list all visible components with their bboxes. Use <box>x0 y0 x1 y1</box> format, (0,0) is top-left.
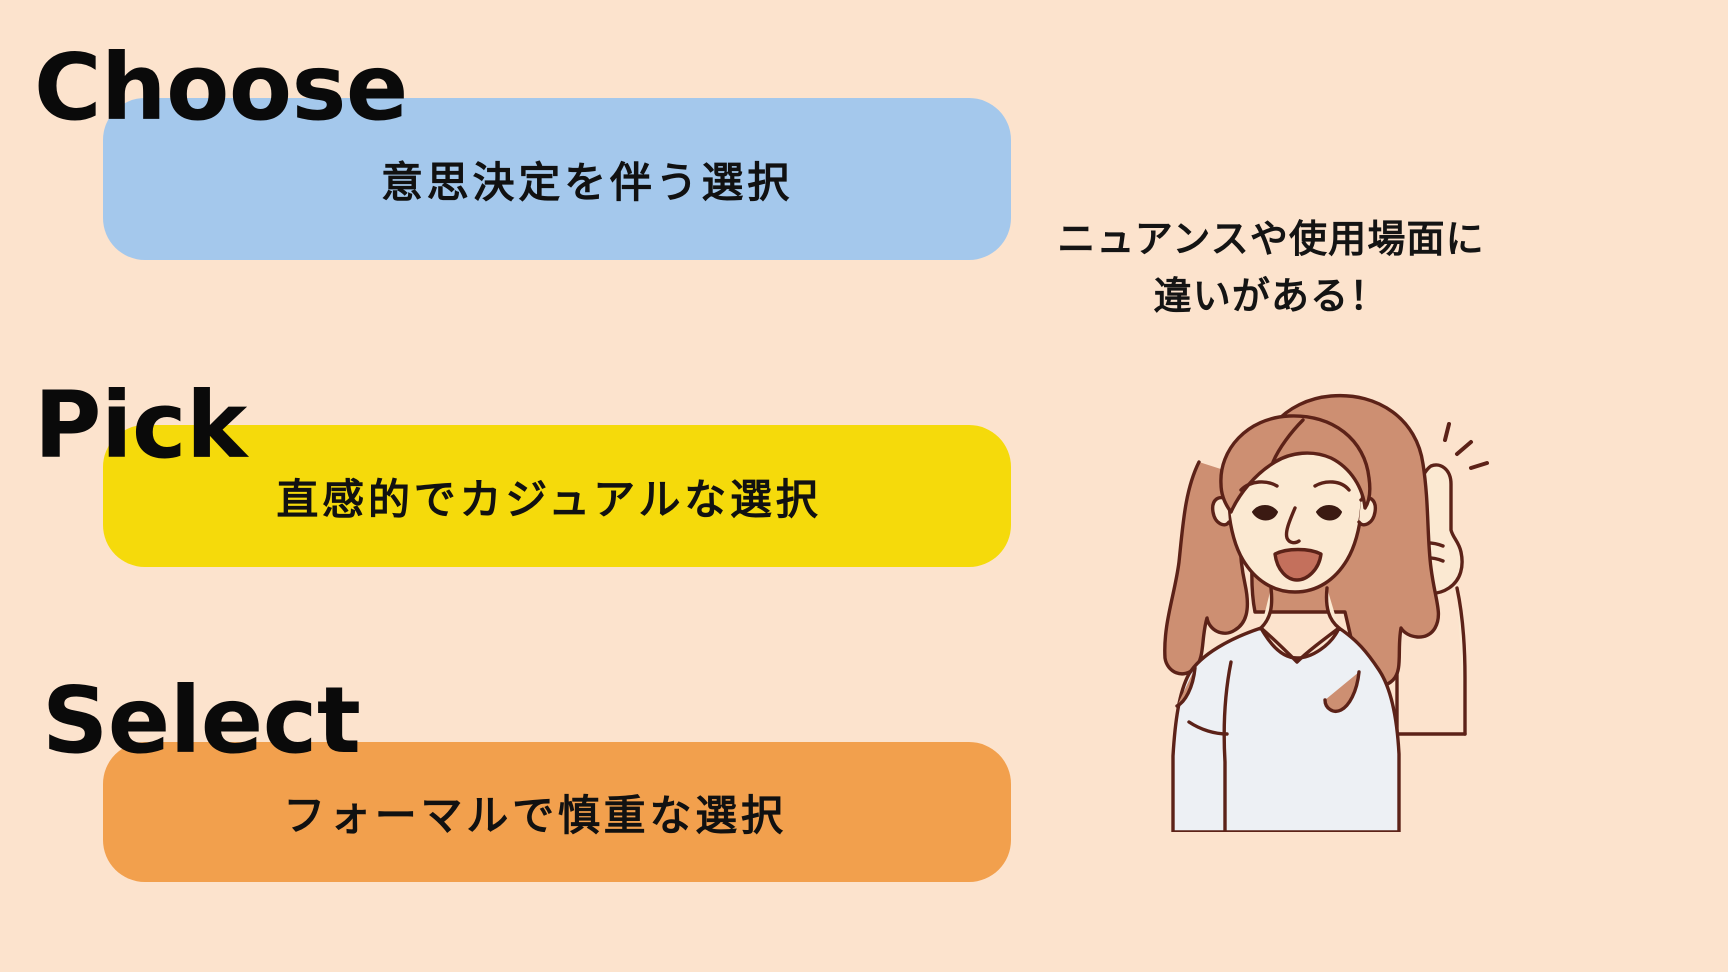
bar-caption-choose: 意思決定を伴う選択 <box>381 149 793 210</box>
summary-note-line-1: ニュアンスや使用場面に <box>1026 212 1516 269</box>
word-choose: Choose <box>34 42 408 134</box>
bar-caption-select: フォーマルで慎重な選択 <box>283 782 787 843</box>
summary-note-line-2: 違いがある！ <box>1026 269 1516 326</box>
bar-caption-pick: 直感的でカジュアルな選択 <box>276 466 821 527</box>
word-select: Select <box>42 675 360 767</box>
slide-canvas: 意思決定を伴う選択 Choose 直感的でカジュアルな選択 Pick フォーマル… <box>0 0 1728 972</box>
summary-note: ニュアンスや使用場面に 違いがある！ <box>1026 212 1516 326</box>
woman-pointing-illustration <box>1135 362 1555 832</box>
word-pick: Pick <box>34 380 247 472</box>
